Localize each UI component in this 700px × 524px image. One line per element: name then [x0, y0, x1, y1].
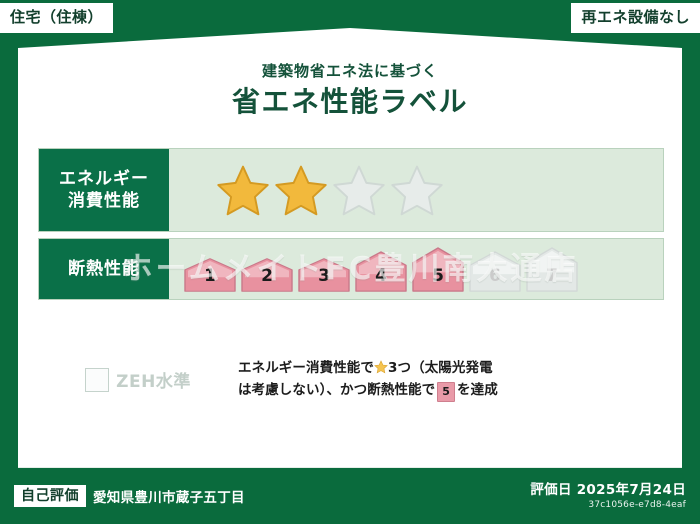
row-energy-label-line1: エネルギー — [59, 168, 149, 190]
star-empty-icon — [333, 164, 385, 216]
footer-right-block: 評価日 2025年7月24日 37c1056e-e7d8-4eaf — [530, 482, 686, 510]
house-shape-icon — [468, 251, 522, 292]
row-insulation-label: 断熱性能 — [39, 239, 169, 299]
star-filled-icon — [217, 164, 269, 216]
zeh-desc-line1-a: エネルギー消費性能で — [238, 360, 374, 376]
house-shape-icon — [297, 258, 351, 292]
house-shape-icon — [411, 247, 465, 292]
insulation-grade-2: 2 — [240, 258, 294, 292]
star-filled-icon — [275, 164, 327, 216]
inline-grade-badge: 5 — [437, 382, 455, 402]
insulation-grade-5: 5 — [411, 247, 465, 292]
badge-renewable-energy: 再エネ設備なし — [571, 3, 700, 33]
zeh-section: ZEH水準 エネルギー消費性能で3つ（太陽光発電 は考慮しない）、かつ断熱性能で… — [38, 358, 664, 402]
zeh-desc-line1-b: 3つ（太陽光発電 — [388, 360, 493, 376]
insulation-grade-scale: 1234567 — [169, 247, 579, 292]
row-insulation-label-text: 断熱性能 — [68, 258, 140, 280]
star-rating — [169, 164, 443, 216]
house-shape-icon — [183, 258, 237, 292]
star-empty-icon — [391, 164, 443, 216]
zeh-description: エネルギー消費性能で3つ（太陽光発電 は考慮しない）、かつ断熱性能で5を達成 — [238, 358, 664, 402]
row-energy-consumption: エネルギー 消費性能 — [38, 148, 664, 232]
insulation-grade-7: 7 — [525, 247, 579, 292]
insulation-grade-6: 6 — [468, 251, 522, 292]
performance-rows: エネルギー 消費性能 断熱性能 1234567 — [38, 148, 664, 306]
property-address: 愛知県豊川市蔵子五丁目 — [93, 486, 245, 506]
heading-title: 省エネ性能ラベル — [0, 86, 700, 118]
house-shape-icon — [240, 258, 294, 292]
row-energy-label-line2: 消費性能 — [68, 190, 140, 212]
row-energy-body — [169, 149, 663, 231]
zeh-label: ZEH水準 — [116, 367, 191, 392]
house-shape-icon — [354, 251, 408, 292]
zeh-status: ZEH水準 — [38, 367, 238, 392]
inline-star-icon — [374, 360, 388, 374]
insulation-grade-1: 1 — [183, 258, 237, 292]
row-insulation: 断熱性能 1234567 — [38, 238, 664, 300]
label-heading: 建築物省エネ法に基づく 省エネ性能ラベル — [0, 62, 700, 118]
house-shape-icon — [525, 247, 579, 292]
heading-subtitle: 建築物省エネ法に基づく — [0, 62, 700, 80]
insulation-grade-4: 4 — [354, 251, 408, 292]
energy-performance-label: 住宅（住棟） 再エネ設備なし 建築物省エネ法に基づく 省エネ性能ラベル エネルギ… — [0, 0, 700, 524]
evaluation-id: 37c1056e-e7d8-4eaf — [530, 500, 686, 510]
row-energy-label: エネルギー 消費性能 — [39, 149, 169, 231]
zeh-house-icon — [85, 368, 109, 392]
badge-building-type: 住宅（住棟） — [0, 3, 113, 33]
insulation-grade-3: 3 — [297, 258, 351, 292]
evaluation-date: 評価日 2025年7月24日 — [530, 482, 686, 498]
row-insulation-body: 1234567 — [169, 239, 663, 299]
zeh-desc-line2-b: を達成 — [457, 382, 498, 398]
self-evaluation-tag: 自己評価 — [14, 485, 86, 507]
zeh-desc-line2-a: は考慮しない）、かつ断熱性能で — [238, 382, 435, 398]
footer-bar: 自己評価 愛知県豊川市蔵子五丁目 評価日 2025年7月24日 37c1056e… — [0, 468, 700, 524]
